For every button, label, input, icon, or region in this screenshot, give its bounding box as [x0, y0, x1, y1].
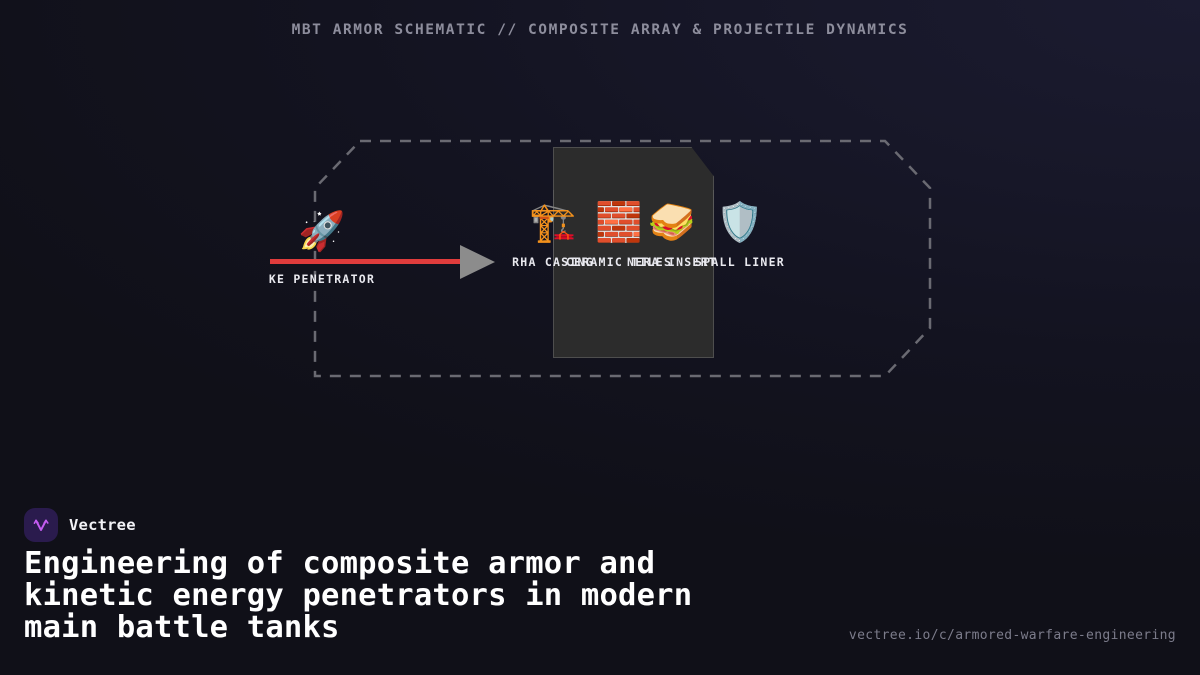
brand-lockup[interactable]: Vectree — [24, 508, 136, 542]
headline: Engineering of composite armor and kinet… — [24, 548, 924, 644]
vectree-logo-icon — [24, 508, 58, 542]
node-label-spall-liner: SPALL LINER — [695, 255, 785, 269]
brand-name: Vectree — [69, 516, 136, 534]
node-label-ke-penetrator: KE PENETRATOR — [269, 272, 375, 286]
armor-schematic-diagram: 🚀 KE PENETRATOR 🏗️ RHA CASING 🧱 CERAMIC … — [0, 0, 1200, 460]
footer-url: vectree.io/c/armored-warfare-engineering — [849, 628, 1176, 643]
node-spall-liner[interactable]: 🛡️ SPALL LINER — [655, 203, 825, 269]
shield-icon: 🛡️ — [716, 203, 763, 241]
node-ke-penetrator[interactable]: 🚀 KE PENETRATOR — [237, 212, 407, 286]
rocket-icon: 🚀 — [298, 212, 345, 250]
poster-canvas: MBT ARMOR SCHEMATIC // COMPOSITE ARRAY &… — [0, 0, 1200, 675]
footer: Vectree Engineering of composite armor a… — [0, 495, 1200, 675]
